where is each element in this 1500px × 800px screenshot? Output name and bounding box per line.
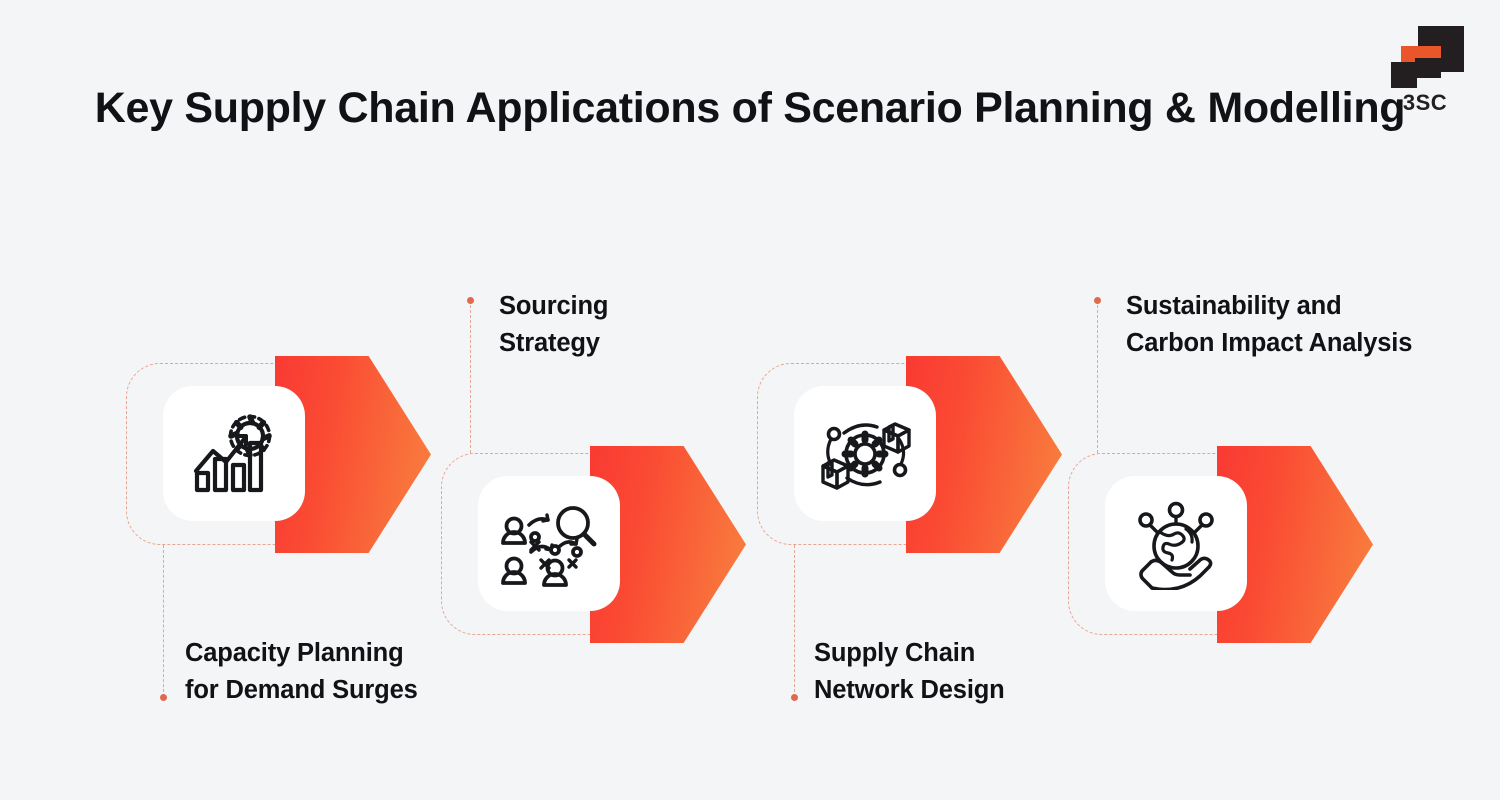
step-label: Sourcing Strategy: [499, 288, 799, 361]
steps-diagram: Capacity Planning for Demand Surges: [0, 0, 1500, 800]
step-label: Sustainability and Carbon Impact Analysi…: [1126, 288, 1500, 361]
step-icon-card: [1105, 476, 1247, 611]
step-label: Capacity Planning for Demand Surges: [185, 635, 515, 708]
people-network-magnifier-icon: [501, 498, 597, 590]
step-icon-card: [163, 386, 305, 521]
bar-chart-gear-growth-icon: [188, 410, 280, 498]
gear-boxes-network-icon: [816, 408, 914, 500]
hand-globe-nodes-icon: [1129, 498, 1223, 590]
step-label: Supply Chain Network Design: [814, 635, 1144, 708]
connector-dot: [1094, 297, 1101, 304]
connector-dot: [791, 694, 798, 701]
step-icon-card: [794, 386, 936, 521]
connector-dot: [160, 694, 167, 701]
step-icon-card: [478, 476, 620, 611]
connector-dot: [467, 297, 474, 304]
